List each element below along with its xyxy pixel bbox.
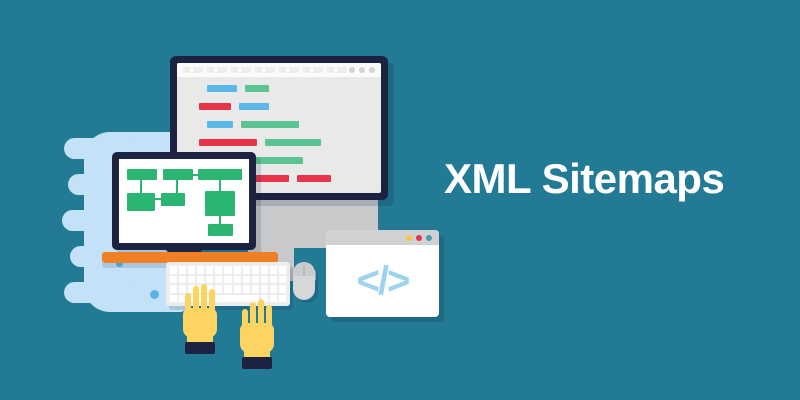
sleeve-cuff bbox=[242, 357, 272, 369]
window-dot[interactable] bbox=[359, 67, 365, 73]
keyboard-key[interactable] bbox=[197, 266, 204, 274]
keyboard-key[interactable] bbox=[243, 276, 250, 284]
keyboard-key[interactable] bbox=[215, 276, 222, 284]
keyboard-key[interactable] bbox=[243, 285, 250, 293]
keyboard-key[interactable] bbox=[206, 276, 213, 284]
keyboard-key[interactable] bbox=[243, 266, 250, 274]
code-window-control-dots[interactable] bbox=[406, 235, 432, 241]
keyboard-key[interactable] bbox=[224, 285, 231, 293]
keyboard-key[interactable] bbox=[234, 285, 241, 293]
sitemap-node bbox=[163, 169, 193, 180]
code-window-body[interactable]: </> bbox=[326, 230, 439, 317]
keyboard-key[interactable] bbox=[188, 266, 195, 274]
keyboard-key[interactable] bbox=[206, 266, 213, 274]
code-snippet-window[interactable]: </> bbox=[326, 230, 444, 322]
keyboard-key[interactable] bbox=[197, 276, 204, 284]
keyboard-key[interactable] bbox=[234, 266, 241, 274]
keyboard-key[interactable] bbox=[170, 266, 177, 274]
window-dot[interactable] bbox=[349, 67, 355, 73]
sitemap-node bbox=[127, 193, 155, 211]
keyboard-key[interactable] bbox=[224, 276, 231, 284]
code-line-segment bbox=[297, 175, 331, 182]
keyboard-key[interactable] bbox=[270, 266, 277, 274]
computer-mouse[interactable] bbox=[293, 262, 315, 300]
window-dot[interactable] bbox=[416, 235, 422, 241]
sitemap-node bbox=[208, 224, 233, 236]
laptop-screen bbox=[119, 159, 249, 243]
keyboard-key[interactable] bbox=[279, 285, 286, 293]
code-line-segment bbox=[239, 103, 269, 110]
blob-lobe bbox=[64, 282, 134, 303]
keyboard-key[interactable] bbox=[170, 285, 177, 293]
sitemap-connector bbox=[140, 180, 142, 193]
window-control-dots[interactable] bbox=[349, 67, 375, 73]
keyboard-key[interactable] bbox=[170, 276, 177, 284]
keyboard-key[interactable] bbox=[252, 266, 259, 274]
sitemap-connector bbox=[176, 180, 178, 193]
sitemap-node bbox=[205, 191, 235, 216]
keyboard-key[interactable] bbox=[179, 266, 186, 274]
window-dot[interactable] bbox=[406, 235, 412, 241]
code-line-segment bbox=[207, 85, 237, 92]
page-title: XML Sitemaps bbox=[444, 157, 764, 201]
left-hand-typing bbox=[182, 284, 222, 356]
blob-accent-dot bbox=[150, 290, 159, 299]
sitemap-node bbox=[127, 169, 157, 180]
keyboard-key[interactable] bbox=[234, 276, 241, 284]
keyboard-key[interactable] bbox=[279, 276, 286, 284]
keyboard-key[interactable] bbox=[279, 266, 286, 274]
code-window-title-bar bbox=[326, 230, 439, 245]
keyboard-key[interactable] bbox=[270, 276, 277, 284]
laptop-bezel bbox=[112, 152, 256, 250]
sitemap-connector bbox=[219, 180, 221, 191]
laptop-with-sitemap-diagram bbox=[112, 152, 284, 276]
keyboard-key[interactable] bbox=[179, 276, 186, 284]
right-hand-typing bbox=[238, 298, 278, 370]
window-dot[interactable] bbox=[426, 235, 432, 241]
mouse-body[interactable] bbox=[293, 262, 315, 300]
code-tag-icon: </> bbox=[326, 245, 439, 317]
sleeve-cuff bbox=[185, 342, 215, 354]
keyboard-key[interactable] bbox=[215, 266, 222, 274]
keyboard-key[interactable] bbox=[188, 276, 195, 284]
code-line-segment bbox=[245, 85, 269, 92]
code-line-segment bbox=[207, 121, 233, 128]
keyboard-key[interactable] bbox=[270, 285, 277, 293]
keyboard-key[interactable] bbox=[279, 295, 286, 303]
sitemap-node bbox=[161, 193, 185, 206]
code-line-segment bbox=[265, 139, 321, 146]
window-dot[interactable] bbox=[369, 67, 375, 73]
keyboard-key[interactable] bbox=[224, 266, 231, 274]
keyboard-key[interactable] bbox=[261, 285, 268, 293]
keyboard-key[interactable] bbox=[252, 276, 259, 284]
mouse-scroll-divider bbox=[303, 265, 305, 276]
sitemap-node bbox=[198, 169, 242, 180]
keyboard-key[interactable] bbox=[252, 285, 259, 293]
xml-sitemaps-banner: </> XML Sitemaps bbox=[0, 0, 800, 400]
code-line-segment bbox=[241, 121, 299, 128]
editor-title-bar bbox=[177, 63, 381, 77]
keyboard-key[interactable] bbox=[170, 295, 177, 303]
code-line-segment bbox=[199, 103, 231, 110]
keyboard-key[interactable] bbox=[261, 266, 268, 274]
code-line-segment bbox=[199, 139, 257, 146]
editor-tab-placeholder bbox=[183, 67, 347, 73]
sitemap-connector bbox=[219, 216, 221, 224]
keyboard-key[interactable] bbox=[261, 276, 268, 284]
